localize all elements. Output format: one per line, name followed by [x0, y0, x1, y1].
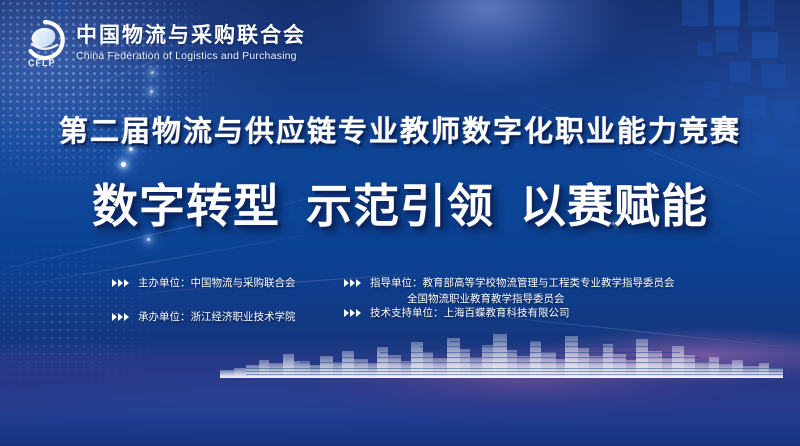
logo-name-cn: 中国物流与采购联合会	[76, 24, 306, 48]
triple-arrow-icon	[112, 310, 129, 321]
slogan: 数字转型示范引领以赛赋能	[0, 170, 800, 236]
credit-text-guidance: 指导单位：教育部高等学校物流管理与工程类专业教学指导委员会	[370, 276, 675, 291]
triple-arrow-icon	[344, 276, 361, 287]
cflp-abbr-text: CFLP	[28, 58, 56, 68]
slogan-part-3: 以赛赋能	[520, 180, 708, 232]
credit-text-organizer: 主办单位：中国物流与采购联合会	[138, 276, 296, 291]
city-skyline-silhouette	[0, 332, 800, 378]
credits-column-left: 主办单位：中国物流与采购联合会 承办单位：浙江经济职业技术学院	[112, 276, 344, 325]
credit-text-host: 承办单位：浙江经济职业技术学院	[138, 310, 296, 325]
credit-text-guidance-continuation: 全国物流职业教育教学指导委员会	[407, 291, 740, 306]
cflp-globe-logo-icon: CFLP	[22, 20, 68, 66]
credit-row-guidance: 指导单位：教育部高等学校物流管理与工程类专业教学指导委员会	[344, 276, 740, 291]
cflp-logo-block: CFLP 中国物流与采购联合会 China Federation of Logi…	[22, 20, 306, 66]
triple-arrow-icon	[112, 276, 129, 287]
halftone-dot-pattern-lower	[0, 230, 230, 420]
credit-row-tech-support: 技术支持单位：上海百蝶教育科技有限公司	[344, 306, 740, 321]
credits-block: 主办单位：中国物流与采购联合会 承办单位：浙江经济职业技术学院 指导单位：教育部…	[112, 276, 740, 325]
page-title: 第二届物流与供应链专业教师数字化职业能力竞赛	[0, 108, 800, 150]
credit-row-host: 承办单位：浙江经济职业技术学院	[112, 310, 344, 325]
credit-text-tech-support: 技术支持单位：上海百蝶教育科技有限公司	[370, 306, 570, 321]
credits-column-right: 指导单位：教育部高等学校物流管理与工程类专业教学指导委员会 全国物流职业教育教学…	[344, 276, 740, 321]
diagonal-hatch-left	[0, 420, 300, 446]
credit-row-organizer: 主办单位：中国物流与采购联合会	[112, 276, 344, 291]
slogan-part-2: 示范引领	[306, 180, 494, 232]
competition-banner: CFLP 中国物流与采购联合会 China Federation of Logi…	[0, 0, 800, 446]
triple-arrow-icon	[344, 306, 361, 317]
slogan-part-1: 数字转型	[92, 180, 280, 232]
logo-name-en: China Federation of Logistics and Purcha…	[76, 50, 306, 62]
logo-text-group: 中国物流与采购联合会 China Federation of Logistics…	[76, 24, 306, 62]
